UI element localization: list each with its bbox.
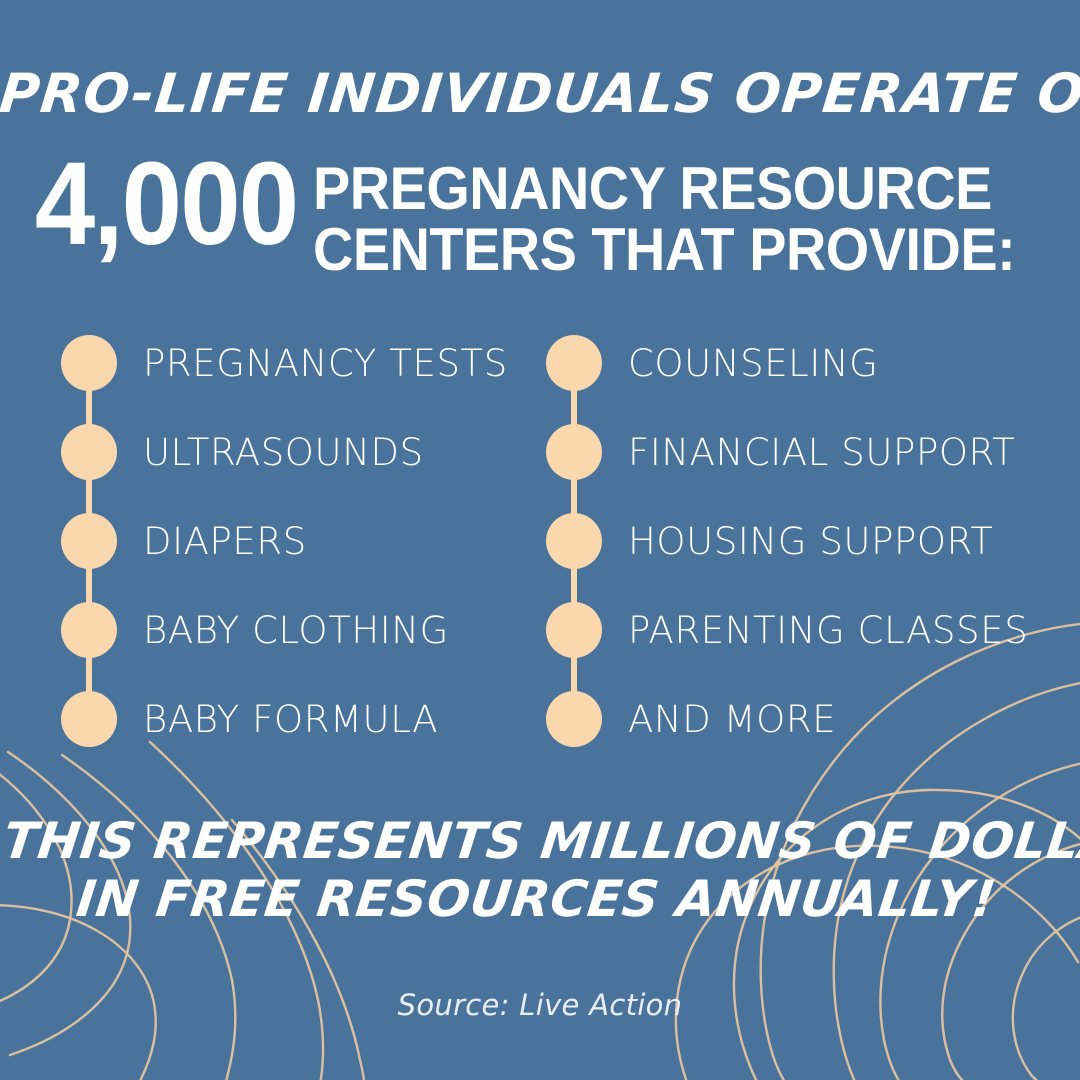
bullet-dot-icon [546, 424, 602, 480]
infographic-poster: PRO-LIFE INDIVIDUALS OPERATE OVER 4,000 … [0, 0, 1080, 1080]
list-item-label: PREGNANCY TESTS [143, 342, 508, 385]
bullet-dot-icon [546, 602, 602, 658]
tagline-line-1: THIS REPRESENTS MILLIONS OF DOLLARS [0, 812, 1080, 870]
list-item: ULTRASOUNDS [61, 424, 424, 480]
list-item-label: DIAPERS [143, 520, 307, 563]
bullet-dot-icon [61, 691, 117, 747]
bullet-dot-icon [546, 691, 602, 747]
list-item-label: PARENTING CLASSES [628, 609, 1028, 652]
list-item-label: HOUSING SUPPORT [628, 520, 993, 563]
big-stat-line-2: CENTERS THAT PROVIDE: [313, 219, 1015, 280]
list-item-label: FINANCIAL SUPPORT [628, 431, 1015, 474]
list-item-label: BABY FORMULA [143, 698, 438, 741]
list-item: BABY CLOTHING [61, 602, 449, 658]
tagline-line-2: IN FREE RESOURCES ANNUALLY! [0, 870, 1080, 928]
bullet-dot-icon [61, 335, 117, 391]
bullet-dot-icon [61, 424, 117, 480]
list-item-label: AND MORE [628, 698, 836, 741]
list-item: PARENTING CLASSES [546, 602, 1028, 658]
list-item: COUNSELING [546, 335, 878, 391]
list-item: HOUSING SUPPORT [546, 513, 993, 569]
list-item: DIAPERS [61, 513, 307, 569]
headline-block: PRO-LIFE INDIVIDUALS OPERATE OVER [0, 66, 1080, 121]
big-stat-line-1: PREGNANCY RESOURCE [313, 158, 1015, 219]
list-item-label: ULTRASOUNDS [143, 431, 424, 474]
bullet-dot-icon [61, 513, 117, 569]
list-item: BABY FORMULA [61, 691, 438, 747]
big-stat-text: PREGNANCY RESOURCE CENTERS THAT PROVIDE: [313, 150, 1015, 280]
source-attribution: Source: Live Action [0, 988, 1080, 1022]
list-item: FINANCIAL SUPPORT [546, 424, 1015, 480]
tagline-block: THIS REPRESENTS MILLIONS OF DOLLARS IN F… [0, 812, 1080, 928]
list-item: PREGNANCY TESTS [61, 335, 508, 391]
big-number: 4,000 [35, 150, 297, 259]
list-item: AND MORE [546, 691, 836, 747]
bullet-dot-icon [61, 602, 117, 658]
bullet-dot-icon [546, 335, 602, 391]
big-stat-block: 4,000 PREGNANCY RESOURCE CENTERS THAT PR… [0, 150, 1080, 280]
list-item-label: BABY CLOTHING [143, 609, 449, 652]
services-lists: PREGNANCY TESTS ULTRASOUNDS DIAPERS BABY… [0, 335, 1080, 745]
bullet-dot-icon [546, 513, 602, 569]
list-item-label: COUNSELING [628, 342, 878, 385]
headline-line-1: PRO-LIFE INDIVIDUALS OPERATE OVER [0, 66, 1080, 121]
